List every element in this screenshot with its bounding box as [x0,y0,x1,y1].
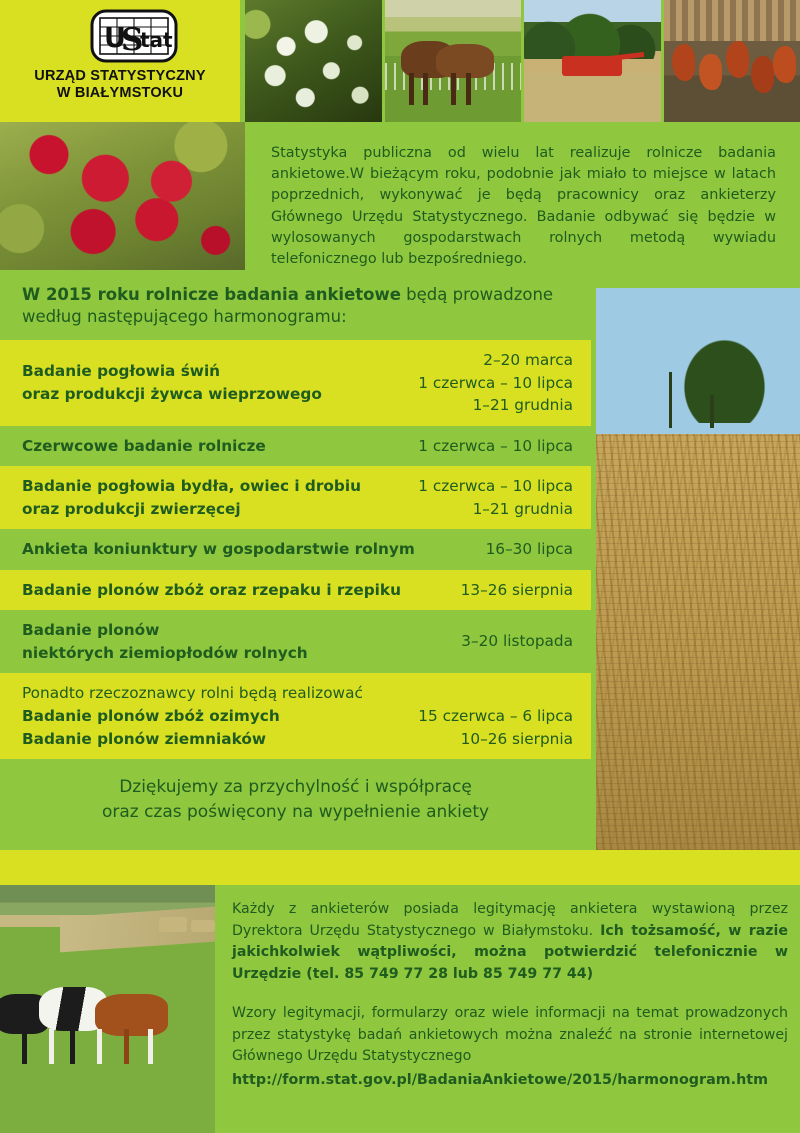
schedule-heading-line1: W 2015 roku rolnicze badania ankietowe b… [22,284,573,306]
harmonogram-url-link[interactable]: http://form.stat.gov.pl/BadaniaAnkietowe… [232,1070,788,1092]
wheat-crop-texture [596,434,800,850]
cow-legs-decor [13,1029,168,1064]
schedule-section: W 2015 roku rolnicze badania ankietowe b… [0,270,591,843]
thanks-line1: Dziękujemy za przychylność i współpracę [18,775,573,800]
schedule-row-dates: 3–20 listopada [461,630,573,653]
hen-shape [699,54,722,91]
schedule-row-name: Czerwcowe badanie rolnicze [22,435,266,458]
schedule-heading: W 2015 roku rolnicze badania ankietowe b… [0,270,591,340]
schedule-row-dates: 2–20 marca 1 czerwca – 10 lipca 1–21 gru… [418,349,573,417]
schedule-row: Badanie plonów niektórych ziemiopłodów r… [0,610,591,673]
footer-info-text: Wzory legitymacji, formularzy oraz wiele… [232,1005,788,1064]
schedule-row-dates: 15 czerwca – 6 lipca [418,705,573,728]
schedule-row: Ankieta koniunktury w gospodarstwie roln… [0,529,591,570]
separator-band [0,850,800,885]
schedule-row: Badanie pogłowia bydła, owiec i drobiu o… [0,466,591,529]
schedule-row: Badanie plonów zbóż oraz rzepaku i rzepi… [0,570,591,611]
schedule-row-dates: 1 czerwca – 10 lipca 1–21 grudnia [418,475,573,520]
footer-text-block: Każdy z ankieterów posiada legitymację a… [232,899,788,1091]
schedule-heading-strong: W 2015 roku rolnicze badania ankietowe [22,285,401,304]
schedule-row-dates: 10–26 sierpnia [461,728,573,751]
schedule-row-dates: 16–30 lipca [486,538,573,561]
schedule-row-name: Badanie plonów zbóż oraz rzepaku i rzepi… [22,579,401,602]
ustat-logo-icon: U S tat [88,8,180,64]
schedule-row-name: Badanie pogłowia bydła, owiec i drobiu o… [22,475,361,520]
hen-shape [726,41,749,78]
horses-photo [385,0,522,122]
schedule-heading-line2: według następującego harmonogramu: [22,306,573,328]
schedule-row-name: Badanie plonów ziemniaków [22,728,266,751]
tree-canopy-shape [678,333,772,423]
top-photo-strip [245,0,800,122]
hen-shape [751,56,774,93]
hen-shape [672,44,695,81]
hay-bale-shape [159,917,187,932]
schedule-row-dates: 13–26 sierpnia [461,579,573,602]
office-name: URZĄD STATYSTYCZNY W BIAŁYMSTOKU [0,68,240,102]
chickens-photo [664,0,800,122]
schedule-row: Czerwcowe badanie rolnicze 1 czerwca – 1… [0,426,591,467]
schedule-row-name: Ankieta koniunktury w gospodarstwie roln… [22,538,415,561]
tree-trunk-shape [710,395,714,429]
tree-line-decor [524,10,661,59]
intro-paragraph: Statystyka publiczna od wielu lat realiz… [245,122,800,270]
wheat-field-photo [596,288,800,850]
thanks-block: Dziękujemy za przychylność i współpracę … [0,759,591,843]
palisade-decor [664,0,800,41]
schedule-row-dates: 1 czerwca – 10 lipca [418,435,573,458]
horse-legs-decor [406,73,488,105]
hen-shape [773,46,796,83]
office-name-line2: W BIAŁYMSTOKU [0,85,240,102]
schedule-heading-rest: będą prowadzone [401,285,553,304]
schedule-row: Badanie pogłowia świń oraz produkcji żyw… [0,340,591,426]
intro-panel: Statystyka publiczna od wielu lat realiz… [245,122,800,270]
schedule-row-name: Badanie plonów zbóż ozimych [22,705,280,728]
schedule-row-name: Badanie plonów niektórych ziemiopłodów r… [22,619,308,664]
schedule-extra-row: Badanie plonów ziemniaków 10–26 sierpnia [22,728,573,751]
schedule-row-name: Badanie pogłowia świń oraz produkcji żyw… [22,360,322,405]
office-name-line1: URZĄD STATYSTYCZNY [0,68,240,85]
footer-paragraph-info: Wzory legitymacji, formularzy oraz wiele… [232,1003,788,1091]
tree-trunk-shape [669,372,672,428]
schedule-extra-block: Ponadto rzeczoznawcy rolni będą realizow… [0,673,591,759]
thanks-line2: oraz czas poświęcony na wypełnienie anki… [18,800,573,825]
footer-paragraph-identity: Każdy z ankieterów posiada legitymację a… [232,899,788,985]
raspberry-photo [0,122,245,270]
header-band: U S tat URZĄD STATYSTYCZNY W BIAŁYMSTOKU [0,0,240,122]
hay-bale-shape [191,920,215,932]
grazing-cows-photo [0,885,215,1133]
apple-blossom-photo [245,0,382,122]
poster-root: U S tat URZĄD STATYSTYCZNY W BIAŁYMSTOKU [0,0,800,1133]
svg-text:tat: tat [140,28,173,52]
combine-harvester-photo [524,0,661,122]
schedule-extra-intro: Ponadto rzeczoznawcy rolni będą realizow… [22,682,573,705]
schedule-extra-row: Badanie plonów zbóż ozimych 15 czerwca –… [22,705,573,728]
